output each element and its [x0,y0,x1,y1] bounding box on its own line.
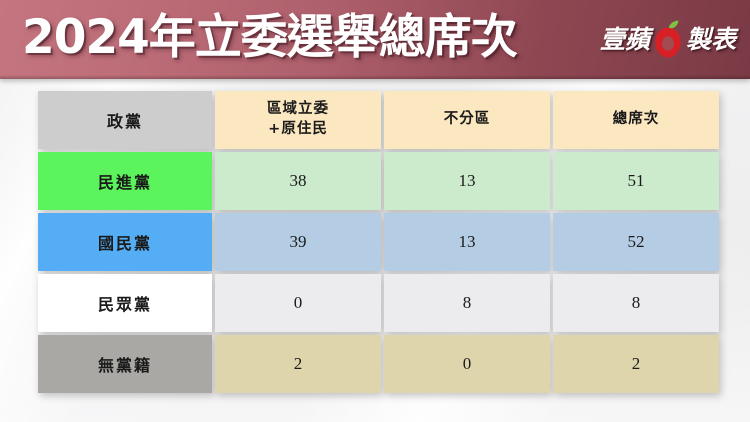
table-row: 民進黨 38 13 51 [38,152,719,210]
header-cell-district: 區域立委 +原住民 [215,91,381,149]
value-kmt-total: 52 [553,213,719,271]
value-independent-total: 2 [553,335,719,393]
party-name-independent: 無黨籍 [38,335,212,393]
table-header-row: 政黨 區域立委 +原住民 不分區 總席次 [38,91,719,149]
header-cell-party: 政黨 [38,91,212,149]
value-independent-district: 2 [215,335,381,393]
value-dpp-district: 38 [215,152,381,210]
header-cell-at-large: 不分區 [384,91,550,149]
brand-logo: 壹蘋 製表 [600,16,736,62]
seat-table-container: 政黨 區域立委 +原住民 不分區 總席次 民進黨 38 13 51 國民黨 [35,88,711,396]
value-tpp-total: 8 [553,274,719,332]
seat-table: 政黨 區域立委 +原住民 不分區 總席次 民進黨 38 13 51 國民黨 [35,88,722,396]
value-dpp-at-large: 13 [384,152,550,210]
value-kmt-at-large: 13 [384,213,550,271]
infographic-page: 2024年立委選舉總席次 壹蘋 製表 [0,0,750,422]
header-district-line1: 區域立委 [215,100,381,120]
logo-left-word: 壹蘋 [600,27,650,52]
party-name-dpp: 民進黨 [38,152,212,210]
table-row: 無黨籍 2 0 2 [38,335,719,393]
header-banner: 2024年立委選舉總席次 壹蘋 製表 [0,0,750,79]
table-row: 國民黨 39 13 52 [38,213,719,271]
value-dpp-total: 51 [553,152,719,210]
table-row: 民眾黨 0 8 8 [38,274,719,332]
apple-icon [653,19,683,59]
party-name-kmt: 國民黨 [38,213,212,271]
page-title: 2024年立委選舉總席次 [22,4,517,72]
header-district-line2: +原住民 [215,120,381,140]
value-tpp-at-large: 8 [384,274,550,332]
logo-right-word: 製表 [686,27,736,52]
value-tpp-district: 0 [215,274,381,332]
value-kmt-district: 39 [215,213,381,271]
party-name-tpp: 民眾黨 [38,274,212,332]
header-cell-total: 總席次 [553,91,719,149]
value-independent-at-large: 0 [384,335,550,393]
